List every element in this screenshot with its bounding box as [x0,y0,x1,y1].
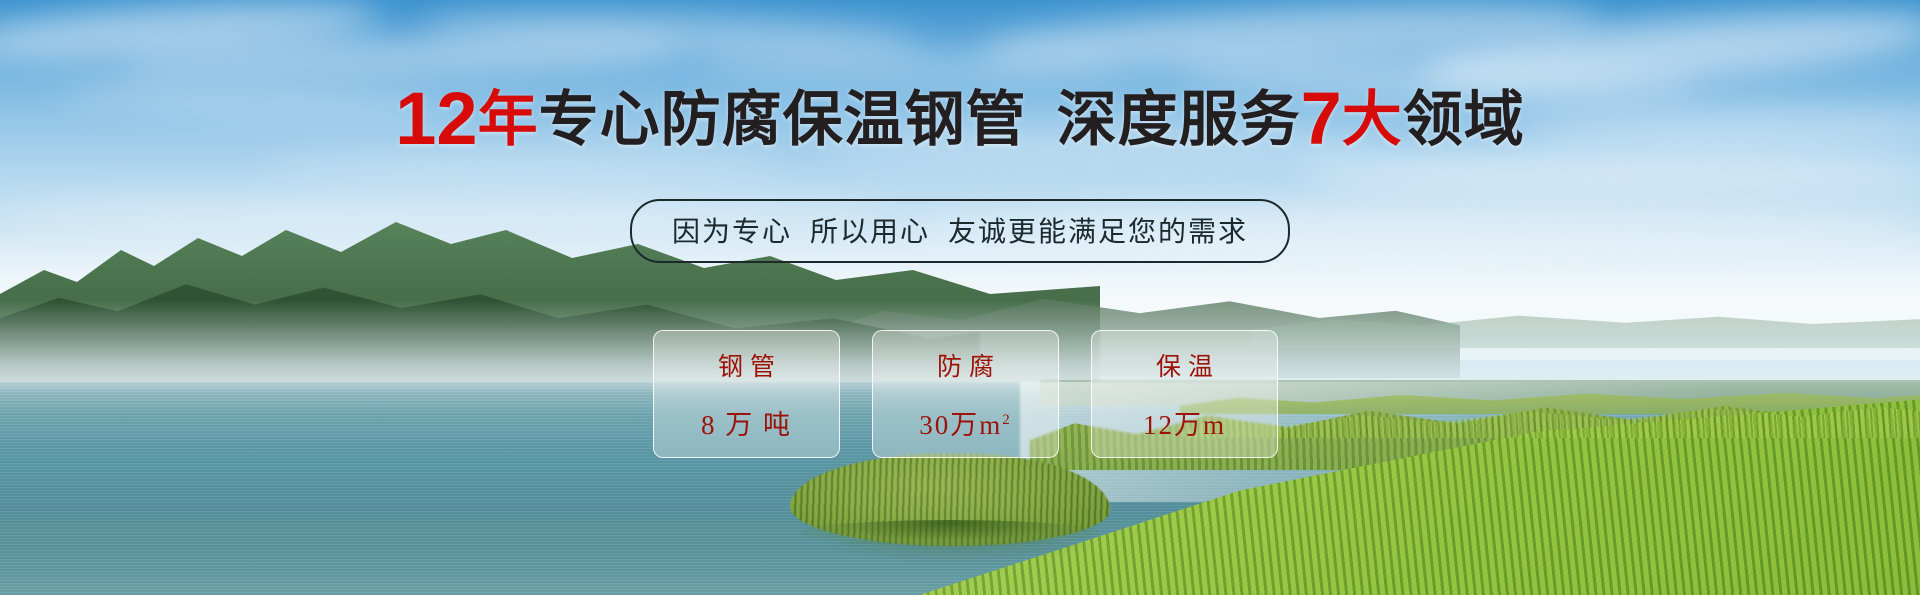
headline-phrase-one: 专心防腐保温钢管 [539,86,1027,153]
headline-years-number: 12 [395,77,477,160]
subtitle-part-two: 所以用心 [810,216,930,247]
stat-card-title: 保温 [1149,347,1220,383]
stat-card-group: 钢管 8 万 吨 防腐 30万m2 保温 12万m [653,330,1278,458]
island-shadow [800,520,1100,546]
headline-years-unit: 年 [478,86,539,153]
stat-card-value: 12万m [1143,403,1226,442]
headline-fields-unit: 大 [1342,86,1403,153]
stat-card-title: 防腐 [930,347,1001,383]
stat-card-title: 钢管 [711,347,782,383]
stat-card-value: 30万m2 [919,403,1012,442]
stat-card-value-text: 12万m [1143,410,1226,440]
stat-card-value-text: 30万m [919,410,1002,440]
headline-fields-number: 7 [1301,77,1342,160]
banner-headline: 12年专心防腐保温钢管深度服务7大领域 [0,86,1920,153]
stat-card-value-unit-exponent: 2 [1002,412,1012,428]
banner-subtitle-pill: 因为专心所以用心友诚更能满足您的需求 [630,199,1290,263]
stat-card-anticorrosion[interactable]: 防腐 30万m2 [872,330,1059,458]
cloud-icon [260,150,780,180]
stat-card-steel-pipe[interactable]: 钢管 8 万 吨 [653,330,840,458]
headline-phrase-two: 深度服务 [1057,86,1301,153]
stat-card-value: 8 万 吨 [701,403,792,442]
headline-phrase-three: 领域 [1403,86,1525,153]
stat-card-insulation[interactable]: 保温 12万m [1091,330,1278,458]
stat-card-value-text: 8 万 吨 [701,410,792,440]
promo-banner: 12年专心防腐保温钢管深度服务7大领域 因为专心所以用心友诚更能满足您的需求 钢… [0,0,1920,595]
subtitle-part-three: 友诚更能满足您的需求 [948,216,1248,247]
cloud-icon [1300,150,1920,194]
subtitle-part-one: 因为专心 [672,216,792,247]
